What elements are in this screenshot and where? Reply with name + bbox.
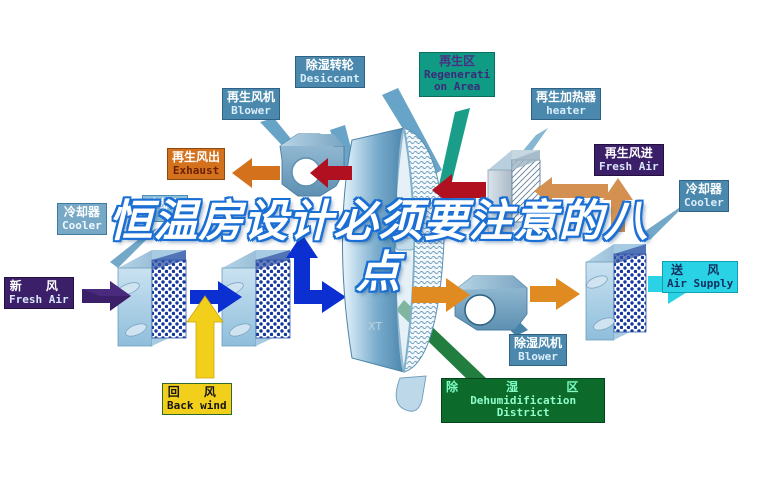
- label-back-wind-en: Back wind: [167, 400, 227, 412]
- label-cooler-right-en: Cooler: [684, 197, 724, 209]
- airflow-schematic: XT: [0, 0, 757, 488]
- exhaust-arrow: [232, 158, 280, 188]
- label-regeneration-heater[interactable]: 再生加热器 heater: [531, 88, 601, 120]
- label-exhaust-en: Exhaust: [172, 165, 220, 177]
- label-cooler-left-b-cn: 冷却器: [147, 198, 183, 211]
- label-exhaust-cn: 再生风出: [172, 151, 220, 164]
- label-regeneration-area-en: Regenerati: [424, 69, 490, 81]
- label-fresh-air-in-en: Fresh Air: [9, 294, 69, 306]
- dehumidification-blower: [455, 276, 527, 330]
- label-dehumidification-district-cn: 除 湿 区: [446, 381, 600, 394]
- label-exhaust[interactable]: 再生风出 Exhaust: [167, 148, 225, 180]
- label-regeneration-heater-cn: 再生加热器: [536, 91, 596, 104]
- label-cooler-left-a-en: Cooler: [62, 220, 102, 232]
- back-wind-arrow: [187, 296, 223, 378]
- svg-text:XT: XT: [368, 320, 382, 333]
- label-regeneration-area[interactable]: 再生区 Regenerati on Area: [419, 52, 495, 97]
- label-air-supply-en: Air Supply: [667, 278, 733, 290]
- label-dehumidification-blower[interactable]: 除湿风机 Blower: [509, 334, 567, 366]
- label-dehumidification-blower-en: Blower: [514, 351, 562, 363]
- label-cooler-left-a[interactable]: 冷却器 Cooler: [57, 203, 107, 235]
- label-dehumidification-district-en: Dehumidification: [446, 395, 600, 407]
- label-cooler-right[interactable]: 冷却器 Cooler: [679, 180, 729, 212]
- label-regeneration-heater-en: heater: [536, 105, 596, 117]
- label-regen-fresh-air[interactable]: 再生风进 Fresh Air: [594, 144, 664, 176]
- label-air-supply[interactable]: 送 风 Air Supply: [662, 261, 738, 293]
- label-regeneration-area-en2: on Area: [424, 81, 490, 93]
- label-desiccant-wheel[interactable]: 除湿转轮 Desiccant: [295, 56, 365, 88]
- label-back-wind[interactable]: 回 风 Back wind: [162, 383, 232, 415]
- label-regeneration-blower-cn: 再生风机: [227, 91, 275, 104]
- regeneration-heater-coil: [488, 150, 540, 232]
- label-regen-fresh-air-en: Fresh Air: [599, 161, 659, 173]
- blower-to-cooler-arrow: [530, 278, 580, 310]
- label-desiccant-wheel-cn: 除湿转轮: [300, 59, 360, 72]
- label-regen-fresh-air-cn: 再生风进: [599, 147, 659, 160]
- label-regeneration-blower-en: Blower: [227, 105, 275, 117]
- diagram-canvas: XT: [0, 0, 757, 488]
- regeneration-blower: [280, 134, 344, 196]
- label-back-wind-cn: 回 风: [167, 386, 227, 399]
- label-dehumidification-blower-cn: 除湿风机: [514, 337, 562, 350]
- label-air-supply-cn: 送 风: [667, 264, 733, 277]
- label-cooler-left-a-cn: 冷却器: [62, 206, 102, 219]
- label-dehumidification-district-en2: District: [446, 407, 600, 419]
- label-cooler-right-cn: 冷却器: [684, 183, 724, 196]
- label-desiccant-wheel-en: Desiccant: [300, 73, 360, 85]
- label-dehumidification-district[interactable]: 除 湿 区 Dehumidification District: [441, 378, 605, 423]
- desiccant-wheel: XT: [343, 128, 445, 411]
- label-regeneration-blower[interactable]: 再生风机 Blower: [222, 88, 280, 120]
- label-fresh-air-in[interactable]: 新 风 Fresh Air: [4, 277, 74, 309]
- label-fresh-air-in-cn: 新 风: [9, 280, 69, 293]
- post-cooling-coil-unit: [585, 244, 646, 340]
- regen-heater-inlet-arrow: [534, 177, 608, 205]
- label-regeneration-area-cn: 再生区: [424, 55, 490, 68]
- label-cooler-left-b[interactable]: 冷却器: [142, 195, 188, 222]
